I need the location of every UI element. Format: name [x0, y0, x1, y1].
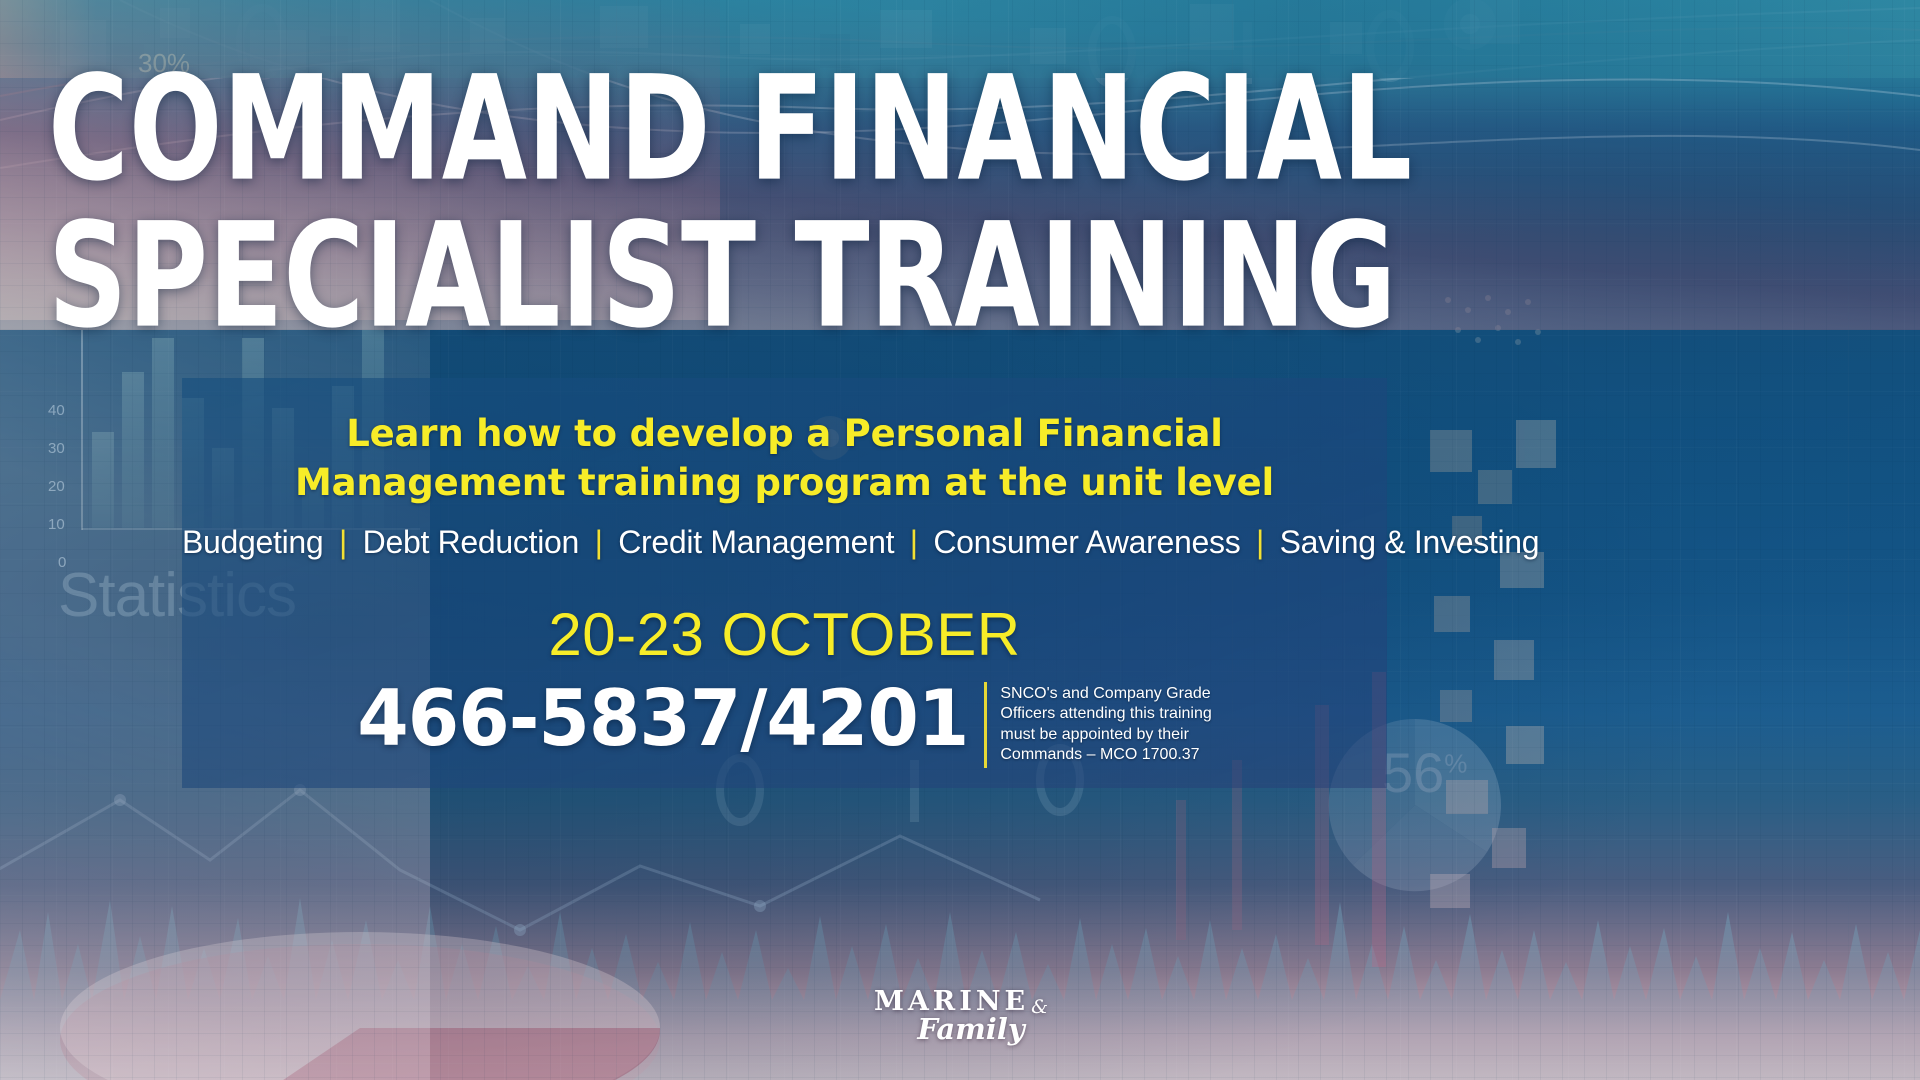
info-panel: Learn how to develop a Personal Financia…	[182, 378, 1387, 788]
marine-family-logo: MARINE& Family	[0, 986, 1920, 1046]
topic-item-consumer-awareness: Consumer Awareness	[933, 524, 1240, 560]
eligibility-fine-print: SNCO's and Company Grade Officers attend…	[1000, 680, 1211, 766]
topic-separator-1: |	[332, 524, 354, 560]
topic-item-debt-reduction: Debt Reduction	[363, 524, 579, 560]
lead-statement: Learn how to develop a Personal Financia…	[182, 410, 1387, 508]
lead-line-2: Management training program at the unit …	[295, 461, 1274, 504]
logo-ampersand: &	[1031, 996, 1048, 1018]
topics-list: Budgeting | Debt Reduction | Credit Mana…	[182, 524, 1387, 561]
logo-secondary-text: Family	[874, 1012, 1046, 1046]
fine-print-line-2: Officers attending this training	[1000, 704, 1211, 724]
contact-phone-number[interactable]: 466-5837/4201	[357, 680, 968, 758]
topic-separator-3: |	[903, 524, 925, 560]
page-title: COMMAND FINANCIAL SPECIALIST TRAINING	[48, 62, 1548, 355]
lead-line-1: Learn how to develop a Personal Financia…	[346, 412, 1222, 455]
logo-wrap: MARINE& Family	[874, 986, 1046, 1046]
contact-row: 466-5837/4201 SNCO's and Company Grade O…	[182, 680, 1387, 768]
poster-canvas: Statistics 30% 56% 40 30 20 10 0 COMMAND…	[0, 0, 1920, 1080]
topic-separator-2: |	[588, 524, 610, 560]
fine-print-line-3: must be appointed by their	[1000, 725, 1211, 745]
topic-item-budgeting: Budgeting	[182, 524, 323, 560]
fine-print-line-1: SNCO's and Company Grade	[1000, 684, 1211, 704]
topic-item-credit-management: Credit Management	[618, 524, 894, 560]
vertical-divider	[984, 682, 987, 768]
headline-line-1: COMMAND FINANCIAL	[48, 62, 1578, 199]
headline-line-2: SPECIALIST TRAINING	[48, 209, 1578, 346]
fine-print-line-4: Commands – MCO 1700.37	[1000, 745, 1211, 765]
event-dates: 20-23 OCTOBER	[182, 600, 1387, 669]
topic-item-saving-investing: Saving & Investing	[1280, 524, 1540, 560]
topic-separator-4: |	[1249, 524, 1271, 560]
